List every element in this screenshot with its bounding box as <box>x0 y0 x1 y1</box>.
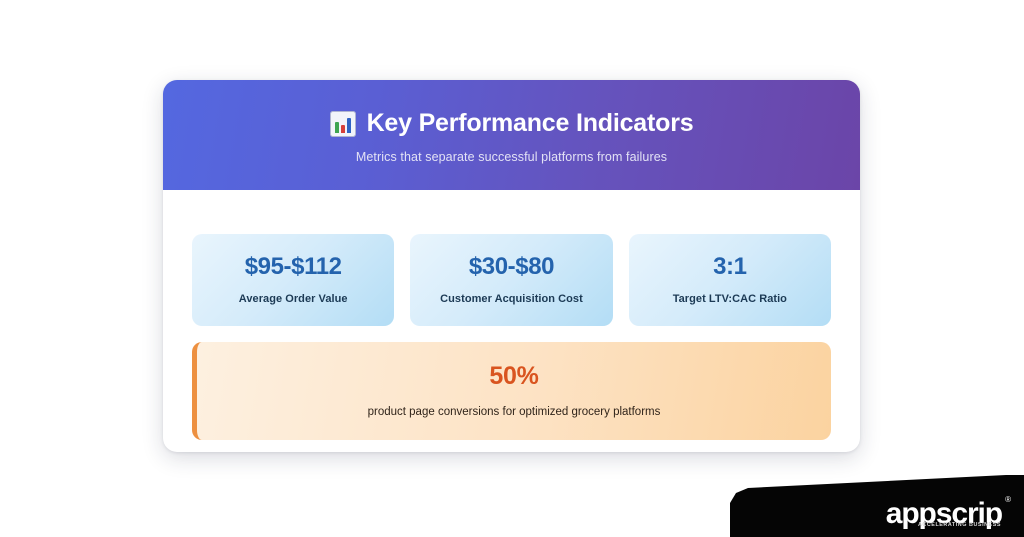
kpi-panel-body: $95-$112 Average Order Value $30-$80 Cus… <box>163 190 860 452</box>
kpi-slide-page: { "card": { "header": { "icon": "bar-cha… <box>0 0 1024 537</box>
highlight-value: 50% <box>489 364 538 389</box>
highlight-caption: product page conversions for optimized g… <box>368 406 661 418</box>
bar-chart-icon-bar-green <box>335 122 339 133</box>
appscrip-logo: appscrip ® ACCELERATING BUSINESS <box>886 499 1002 529</box>
kpi-title-row: Key Performance Indicators <box>330 110 694 138</box>
metric-tile-average-order-value: $95-$112 Average Order Value <box>192 234 394 326</box>
metric-tile-row: $95-$112 Average Order Value $30-$80 Cus… <box>192 234 831 326</box>
page-title: Key Performance Indicators <box>367 110 694 138</box>
bar-chart-icon-bar-red <box>341 125 345 133</box>
metric-tile-target-ltv-cac-ratio: 3:1 Target LTV:CAC Ratio <box>629 234 831 326</box>
highlight-banner: 50% product page conversions for optimiz… <box>192 342 831 440</box>
metric-label: Target LTV:CAC Ratio <box>673 293 787 305</box>
metric-label: Average Order Value <box>239 293 348 305</box>
metric-value: $30-$80 <box>469 255 554 279</box>
kpi-panel: Key Performance Indicators Metrics that … <box>163 80 860 452</box>
kpi-panel-header: Key Performance Indicators Metrics that … <box>163 80 860 190</box>
bar-chart-icon-bar-blue <box>347 118 351 133</box>
metric-label: Customer Acquisition Cost <box>440 293 583 305</box>
metric-tile-customer-acquisition-cost: $30-$80 Customer Acquisition Cost <box>410 234 612 326</box>
metric-value: 3:1 <box>713 255 747 279</box>
registered-trademark-icon: ® <box>1005 496 1011 504</box>
page-subtitle: Metrics that separate successful platfor… <box>356 150 667 164</box>
brand-tagline: ACCELERATING BUSINESS <box>918 523 1001 528</box>
bar-chart-icon <box>330 111 356 137</box>
metric-value: $95-$112 <box>245 255 342 279</box>
